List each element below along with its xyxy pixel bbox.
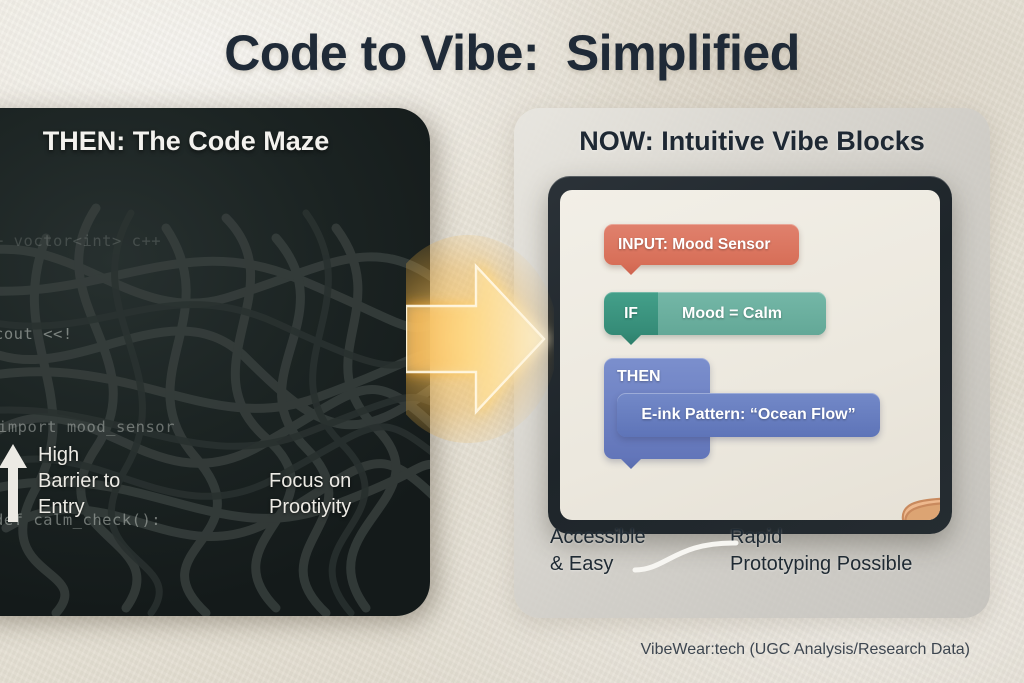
then-block-label: THEN xyxy=(617,368,661,385)
block-notch xyxy=(620,264,642,275)
faint-code-text: + voctor<int> c++ cout <<! import mood_s… xyxy=(0,164,175,616)
if-block[interactable]: IF Mood = Calm xyxy=(604,292,826,335)
tablet-device: INPUT: Mood Sensor IF Mood = Calm THEN E… xyxy=(548,176,952,534)
hand-drag-icon xyxy=(882,412,940,520)
block-notch xyxy=(620,458,642,469)
block-notch xyxy=(620,334,642,345)
eink-block-label: E-ink Pattern: “Ocean Flow” xyxy=(641,406,855,423)
if-block-label: IF xyxy=(604,292,658,335)
if-block-condition[interactable]: Mood = Calm xyxy=(658,292,826,335)
curved-connector-icon xyxy=(632,536,742,574)
then-panel-heading: THEN: The Code Maze xyxy=(0,126,396,157)
rapid-prototyping-caption: Rapid Prototyping Possible xyxy=(730,524,912,578)
now-panel: NOW: Intuitive Vibe Blocks INPUT: Mood S… xyxy=(514,108,990,618)
input-block[interactable]: INPUT: Mood Sensor xyxy=(604,224,799,265)
then-panel: THEN: The Code Maze + voctor<int> c++ co… xyxy=(0,108,430,616)
page-title: Code to Vibe: Simplified xyxy=(0,24,1024,82)
input-block-label: INPUT: Mood Sensor xyxy=(618,236,770,253)
eink-block[interactable]: E-ink Pattern: “Ocean Flow” xyxy=(617,393,880,437)
arrow-up-icon xyxy=(0,442,28,524)
source-footer: VibeWear:tech (UGC Analysis/Research Dat… xyxy=(641,641,970,659)
focus-note-label: Focus on Prootiyity xyxy=(269,468,351,520)
now-panel-heading: NOW: Intuitive Vibe Blocks xyxy=(514,126,990,157)
infographic-canvas: Code to Vibe: Simplified xyxy=(0,0,1024,683)
high-barrier-label: High Barrier to Entry xyxy=(38,442,120,520)
tablet-screen[interactable]: INPUT: Mood Sensor IF Mood = Calm THEN E… xyxy=(560,190,940,520)
